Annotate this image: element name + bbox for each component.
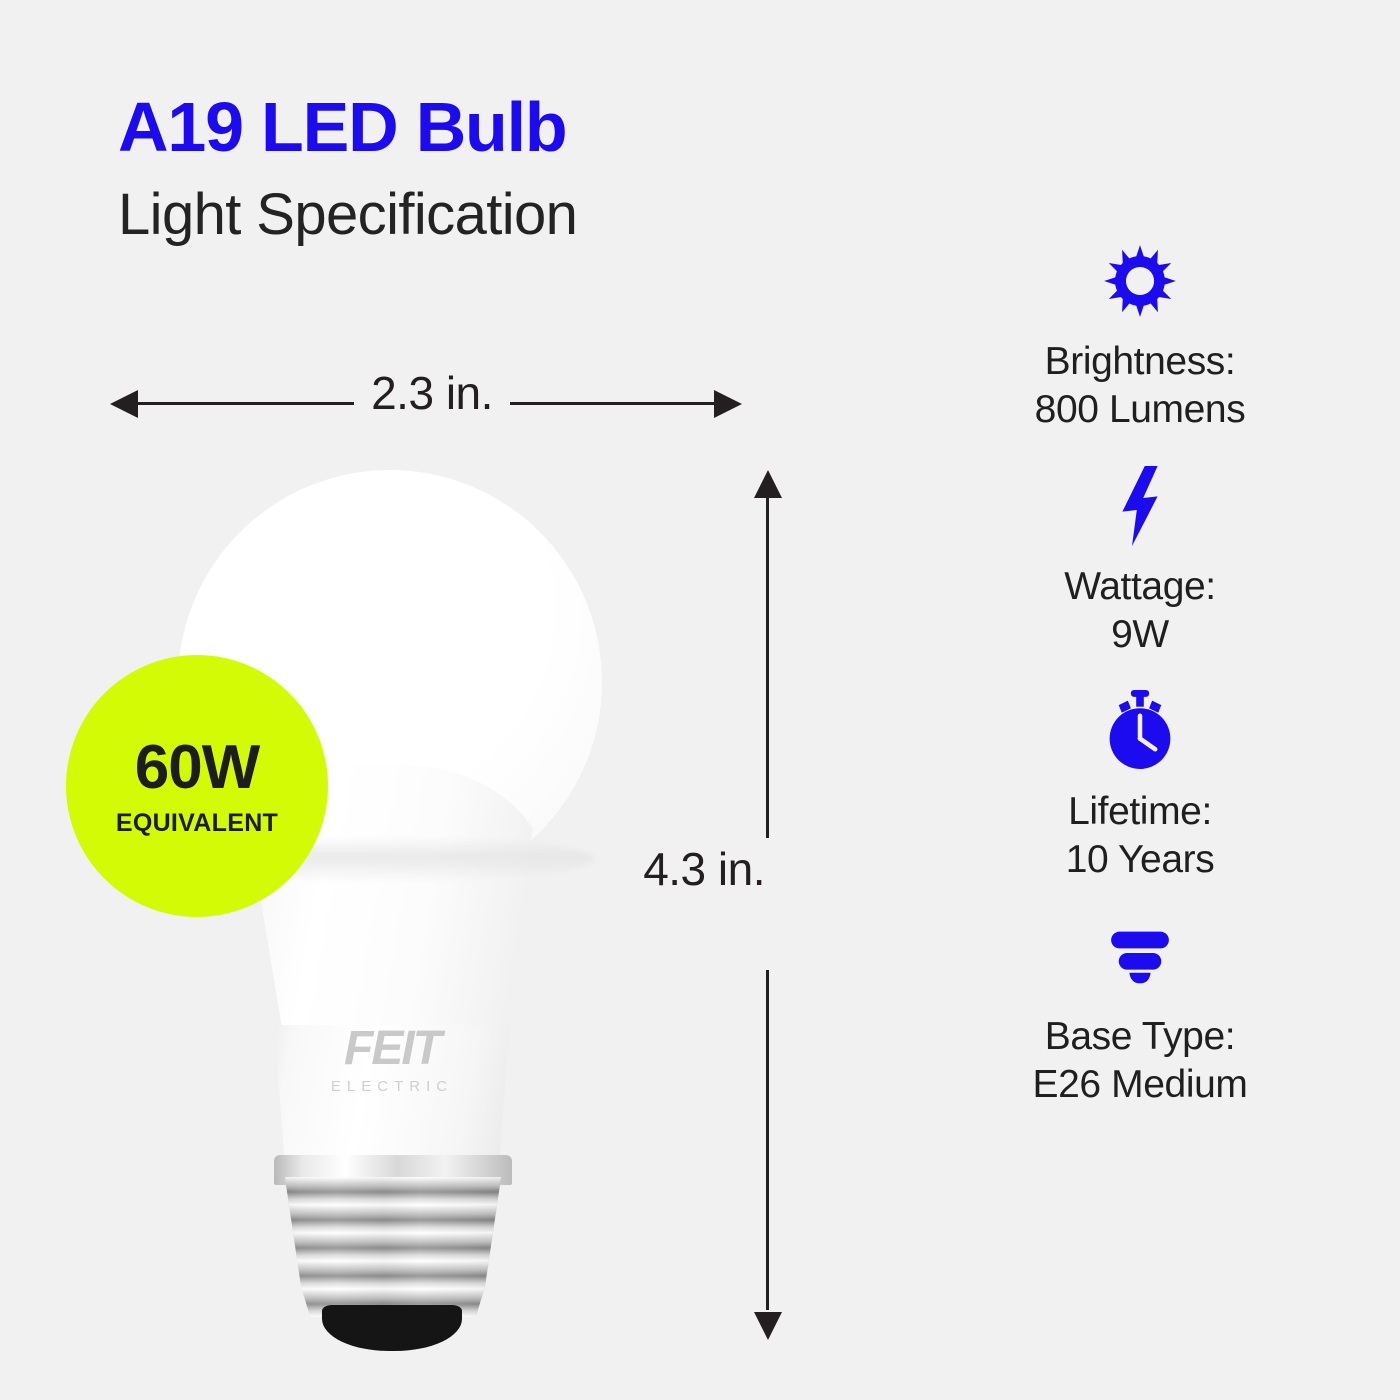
spec-label: Lifetime: xyxy=(1066,788,1215,836)
spec-label-lifetime: Lifetime: 10 Years xyxy=(1066,788,1215,883)
arrow-up-icon xyxy=(754,470,782,498)
dimension-line-right xyxy=(510,402,716,405)
spec-label: Base Type: xyxy=(1033,1013,1248,1061)
spec-value: 10 Years xyxy=(1066,836,1215,884)
width-dimension-label: 2.3 in. xyxy=(354,366,510,420)
spec-label-base-type: Base Type: E26 Medium xyxy=(1033,1013,1248,1108)
height-dimension-label: 4.3 in. xyxy=(605,842,765,896)
width-dimension: 2.3 in. xyxy=(110,366,742,442)
spec-item-brightness: Brightness: 800 Lumens xyxy=(940,238,1340,433)
spec-label: Wattage: xyxy=(1064,563,1215,611)
spec-sheet-page: A19 LED Bulb Light Specification 2.3 in.… xyxy=(0,0,1400,1400)
lightning-bolt-icon xyxy=(1111,463,1169,549)
spec-value: E26 Medium xyxy=(1033,1061,1248,1109)
bulb-contact-tip xyxy=(322,1305,462,1351)
spec-item-wattage: Wattage: 9W xyxy=(940,463,1340,658)
bulb-base-icon xyxy=(1102,913,1178,999)
spec-item-lifetime: Lifetime: 10 Years xyxy=(940,688,1340,883)
dimension-line-bottom xyxy=(766,970,769,1310)
specification-list: Brightness: 800 Lumens Wattage: 9W xyxy=(940,238,1340,1139)
spec-value: 9W xyxy=(1064,611,1215,659)
arrow-down-icon xyxy=(754,1312,782,1340)
sun-icon xyxy=(1101,238,1179,324)
spec-label: Brightness: xyxy=(1035,338,1246,386)
spec-value: 800 Lumens xyxy=(1035,386,1246,434)
spec-item-base-type: Base Type: E26 Medium xyxy=(940,913,1340,1108)
bulb-screw-base xyxy=(278,1177,508,1317)
page-subtitle: Light Specification xyxy=(118,186,878,244)
badge-caption: EQUIVALENT xyxy=(116,811,278,836)
header: A19 LED Bulb Light Specification xyxy=(118,92,878,244)
wattage-equivalent-badge: 60W EQUIVALENT xyxy=(66,655,328,917)
page-title: A19 LED Bulb xyxy=(118,92,878,162)
badge-value: 60W xyxy=(135,737,259,799)
spec-label-wattage: Wattage: 9W xyxy=(1064,563,1215,658)
dimension-line-left xyxy=(136,402,354,405)
bulb-lower-neck xyxy=(252,1025,532,1175)
spec-label-brightness: Brightness: 800 Lumens xyxy=(1035,338,1246,433)
dimension-line-top xyxy=(766,498,769,838)
arrow-left-icon xyxy=(110,390,138,418)
height-dimension: 4.3 in. xyxy=(690,470,870,1340)
arrow-right-icon xyxy=(714,390,742,418)
stopwatch-icon xyxy=(1102,688,1178,774)
